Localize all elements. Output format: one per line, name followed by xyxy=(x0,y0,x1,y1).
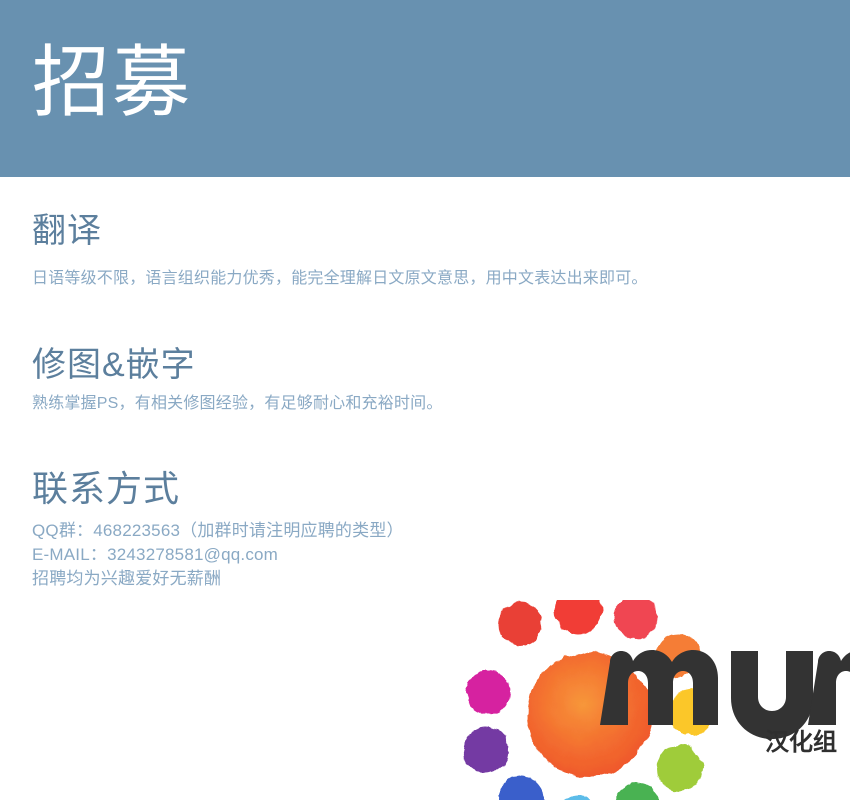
dot-chartreuse-right xyxy=(657,745,703,791)
dot-blue-bottom-left xyxy=(498,776,544,800)
section-contact-heading: 联系方式 xyxy=(32,467,850,511)
contact-line-list: QQ群：468223563（加群时请注明应聘的类型） E-MAIL：324327… xyxy=(32,519,850,591)
dot-green-bottom-right xyxy=(614,782,658,800)
logo-svg: 汉化组 xyxy=(440,600,850,800)
contact-line-email: E-MAIL：3243278581@qq.com xyxy=(32,543,850,567)
section-retouch-heading: 修图&嵌字 xyxy=(32,344,850,386)
section-translate-heading: 翻译 xyxy=(32,210,850,252)
section-contact: 联系方式 QQ群：468223563（加群时请注明应聘的类型） E-MAIL：3… xyxy=(32,467,850,591)
content-area: 翻译 日语等级不限，语言组织能力优秀，能完全理解日文原文意思，用中文表达出来即可… xyxy=(0,210,850,591)
dot-cyan-bottom xyxy=(554,796,602,800)
dot-red-top-right xyxy=(614,600,658,639)
section-retouch: 修图&嵌字 熟练掌握PS，有相关修图经验，有足够耐心和充裕时间。 xyxy=(32,344,850,415)
section-retouch-body: 熟练掌握PS，有相关修图经验，有足够耐心和充裕时间。 xyxy=(32,392,850,415)
dot-magenta-upper-left xyxy=(466,670,510,714)
section-translate: 翻译 日语等级不限，语言组织能力优秀，能完全理解日文原文意思，用中文表达出来即可… xyxy=(32,210,850,290)
section-translate-body: 日语等级不限，语言组织能力优秀，能完全理解日文原文意思，用中文表达出来即可。 xyxy=(32,267,850,290)
dot-purple-left xyxy=(463,727,509,773)
dot-red-top-left xyxy=(498,602,542,646)
logo-subtitle: 汉化组 xyxy=(765,728,837,756)
page-title: 招募 xyxy=(32,36,192,128)
header-band: 招募 xyxy=(0,0,850,177)
group-logo: 汉化组 xyxy=(440,600,850,800)
dot-red-top xyxy=(554,600,602,634)
contact-line-qq: QQ群：468223563（加群时请注明应聘的类型） xyxy=(32,519,850,543)
contact-line-note: 招聘均为兴趣爱好无薪酬 xyxy=(32,567,850,591)
